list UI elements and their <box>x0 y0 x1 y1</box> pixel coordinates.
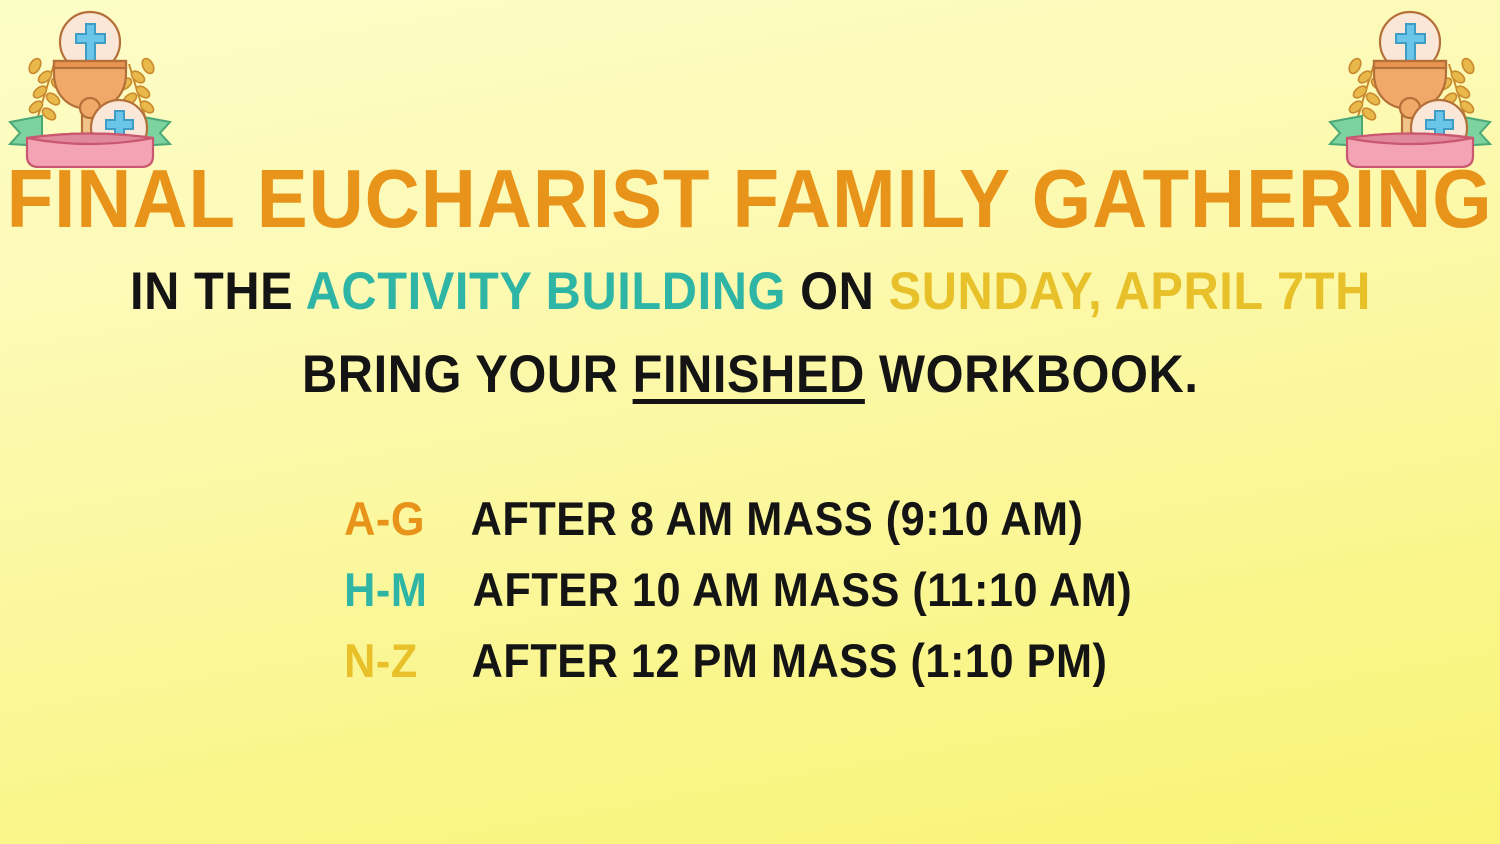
poster-content: FINAL EUCHARIST FAMILY GATHERING IN THE … <box>0 0 1500 844</box>
schedule-row: H-M AFTER 10 AM MASS (11:10 AM) <box>340 566 1161 613</box>
schedule-row: N-Z AFTER 12 PM MASS (1:10 PM) <box>340 637 1161 684</box>
tagline-suffix: WORKBOOK. <box>865 345 1199 404</box>
poster-tagline: BRING YOUR FINISHED WORKBOOK. <box>302 348 1198 401</box>
schedule-list: A-G AFTER 8 AM MASS (9:10 AM) H-M AFTER … <box>340 495 1161 684</box>
schedule-key-n-z: N-Z <box>344 637 440 684</box>
schedule-value-a-g: AFTER 8 AM MASS (9:10 AM) <box>470 495 1083 542</box>
poster-title: FINAL EUCHARIST FAMILY GATHERING <box>7 158 1493 239</box>
subtitle-date: SUNDAY, APRIL 7TH <box>888 262 1370 321</box>
subtitle-conjunction: ON <box>786 262 889 321</box>
tagline-emphasis: FINISHED <box>632 345 864 404</box>
schedule-key-a-g: A-G <box>344 495 440 542</box>
schedule-row: A-G AFTER 8 AM MASS (9:10 AM) <box>340 495 1161 542</box>
poster-subtitle: IN THE ACTIVITY BUILDING ON SUNDAY, APRI… <box>130 265 1371 318</box>
subtitle-venue: ACTIVITY BUILDING <box>305 262 785 321</box>
schedule-value-h-m: AFTER 10 AM MASS (11:10 AM) <box>472 566 1132 613</box>
tagline-prefix: BRING YOUR <box>302 345 633 404</box>
schedule-key-h-m: H-M <box>344 566 440 613</box>
subtitle-prefix: IN THE <box>130 262 306 321</box>
schedule-value-n-z: AFTER 12 PM MASS (1:10 PM) <box>471 637 1107 684</box>
